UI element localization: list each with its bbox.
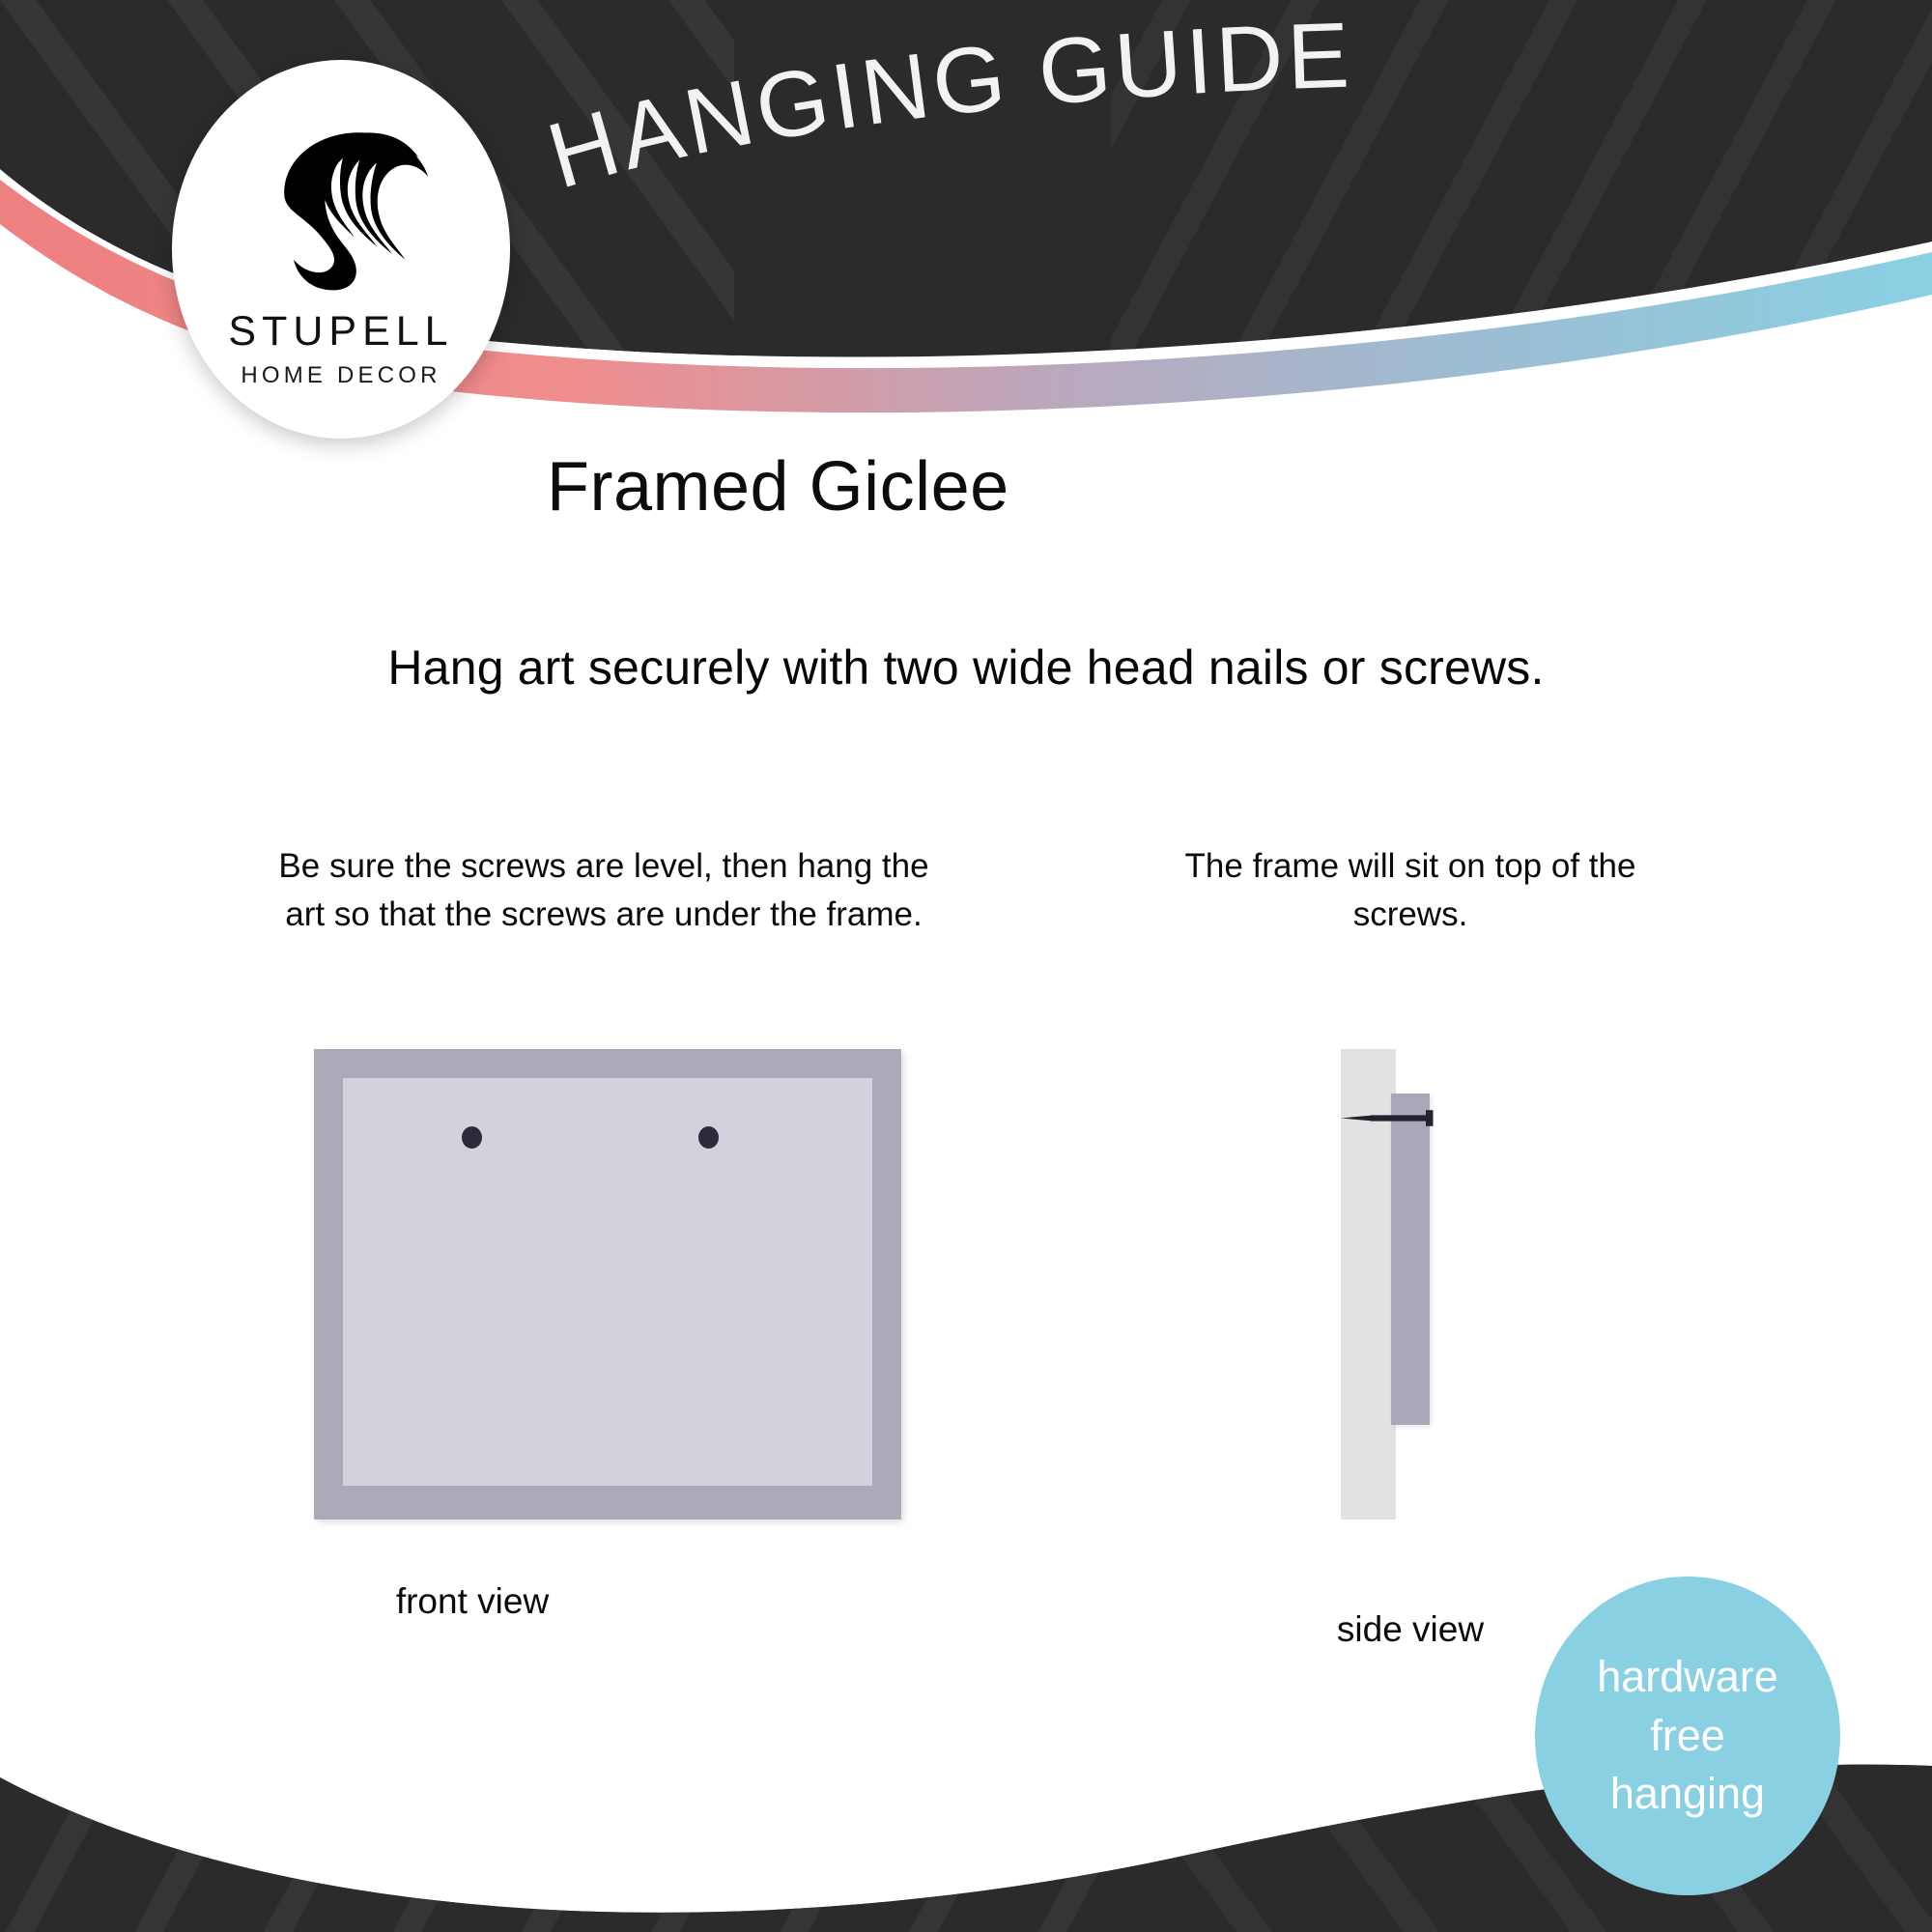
front-view-diagram <box>314 1049 901 1520</box>
nail-icon <box>1339 1105 1445 1130</box>
page-title: HANGING GUIDE <box>541 44 1797 247</box>
brand-wordmark: STUPELL <box>228 311 453 353</box>
front-view-caption: Be sure the screws are level, then hang … <box>270 842 937 938</box>
stupell-swoosh-logo-icon <box>246 110 436 299</box>
front-view-label: front view <box>318 1581 627 1622</box>
side-view-label: side view <box>1236 1609 1584 1650</box>
side-view-caption: The frame will sit on top of the screws. <box>1130 842 1690 938</box>
side-view-diagram <box>1341 1049 1505 1520</box>
hanging-guide-page: STUPELL HOME DECOR HANGING GUIDE Framed … <box>0 0 1932 1932</box>
badge-line-1: hardware <box>1597 1650 1778 1705</box>
badge-line-3: hanging <box>1610 1767 1765 1822</box>
brand-logo-badge: STUPELL HOME DECOR <box>172 60 510 439</box>
product-type-title: Framed Giclee <box>547 447 1009 526</box>
screw-dot-right-icon <box>698 1126 719 1149</box>
art-panel <box>343 1078 872 1486</box>
brand-tagline: HOME DECOR <box>241 364 440 387</box>
hardware-free-hanging-badge: hardware free hanging <box>1535 1577 1840 1895</box>
screw-dot-left-icon <box>462 1126 482 1149</box>
page-title-svg: HANGING GUIDE <box>541 44 1797 247</box>
lead-instruction-text: Hang art securely with two wide head nai… <box>0 639 1932 696</box>
badge-line-2: free <box>1650 1709 1725 1764</box>
frame-border <box>314 1049 901 1520</box>
frame-edge <box>1391 1094 1430 1425</box>
